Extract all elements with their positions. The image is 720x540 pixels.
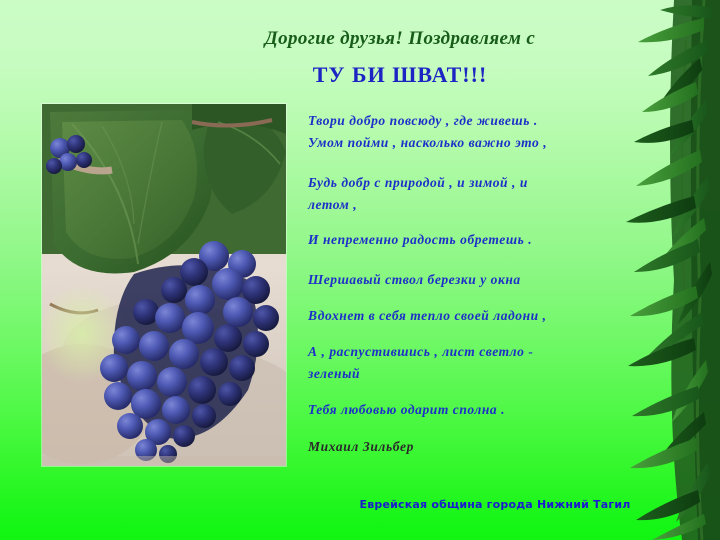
poem-stanza: Шершавый ствол березки у окна Вдохнет в … bbox=[308, 269, 638, 420]
poem-line: И непременно радость обретешь . bbox=[308, 229, 638, 251]
community-banner: Еврейская община города Нижний Тагил bbox=[330, 498, 660, 511]
poem-line: летом , bbox=[308, 194, 638, 216]
poem-line: Будь добр с природой , и зимой , и bbox=[308, 172, 638, 194]
grape-photo bbox=[42, 104, 286, 466]
poem-author: Михаил Зильбер bbox=[308, 439, 638, 455]
poem-line: Твори добро повсюду , где живешь . bbox=[308, 110, 638, 132]
poem-line: Тебя любовью одарит сполна . bbox=[308, 399, 638, 421]
poem-line: Умом пойми , насколько важно это , bbox=[308, 132, 638, 154]
bamboo-artwork bbox=[608, 0, 720, 540]
poem-line: Вдохнет в себя тепло своей ладони , bbox=[308, 305, 638, 327]
poem-line: зеленый bbox=[308, 363, 638, 385]
slide-canvas: Дорогие друзья! Поздравляем с ТУ БИ ШВАТ… bbox=[0, 0, 720, 540]
bamboo-leaves-decoration bbox=[608, 0, 720, 540]
poem-line: Шершавый ствол березки у окна bbox=[308, 269, 638, 291]
greeting-line-1: Дорогие друзья! Поздравляем с bbox=[120, 28, 680, 50]
holiday-title: ТУ БИ ШВАТ!!! bbox=[140, 62, 660, 88]
poem-stanza: Будь добр с природой , и зимой , и летом… bbox=[308, 172, 638, 252]
grape-photo-artwork bbox=[42, 104, 286, 466]
poem-block: Твори добро повсюду , где живешь . Умом … bbox=[308, 110, 638, 455]
poem-stanza: Твори добро повсюду , где живешь . Умом … bbox=[308, 110, 638, 154]
poem-line: А , распустившись , лист светло - bbox=[308, 341, 638, 363]
